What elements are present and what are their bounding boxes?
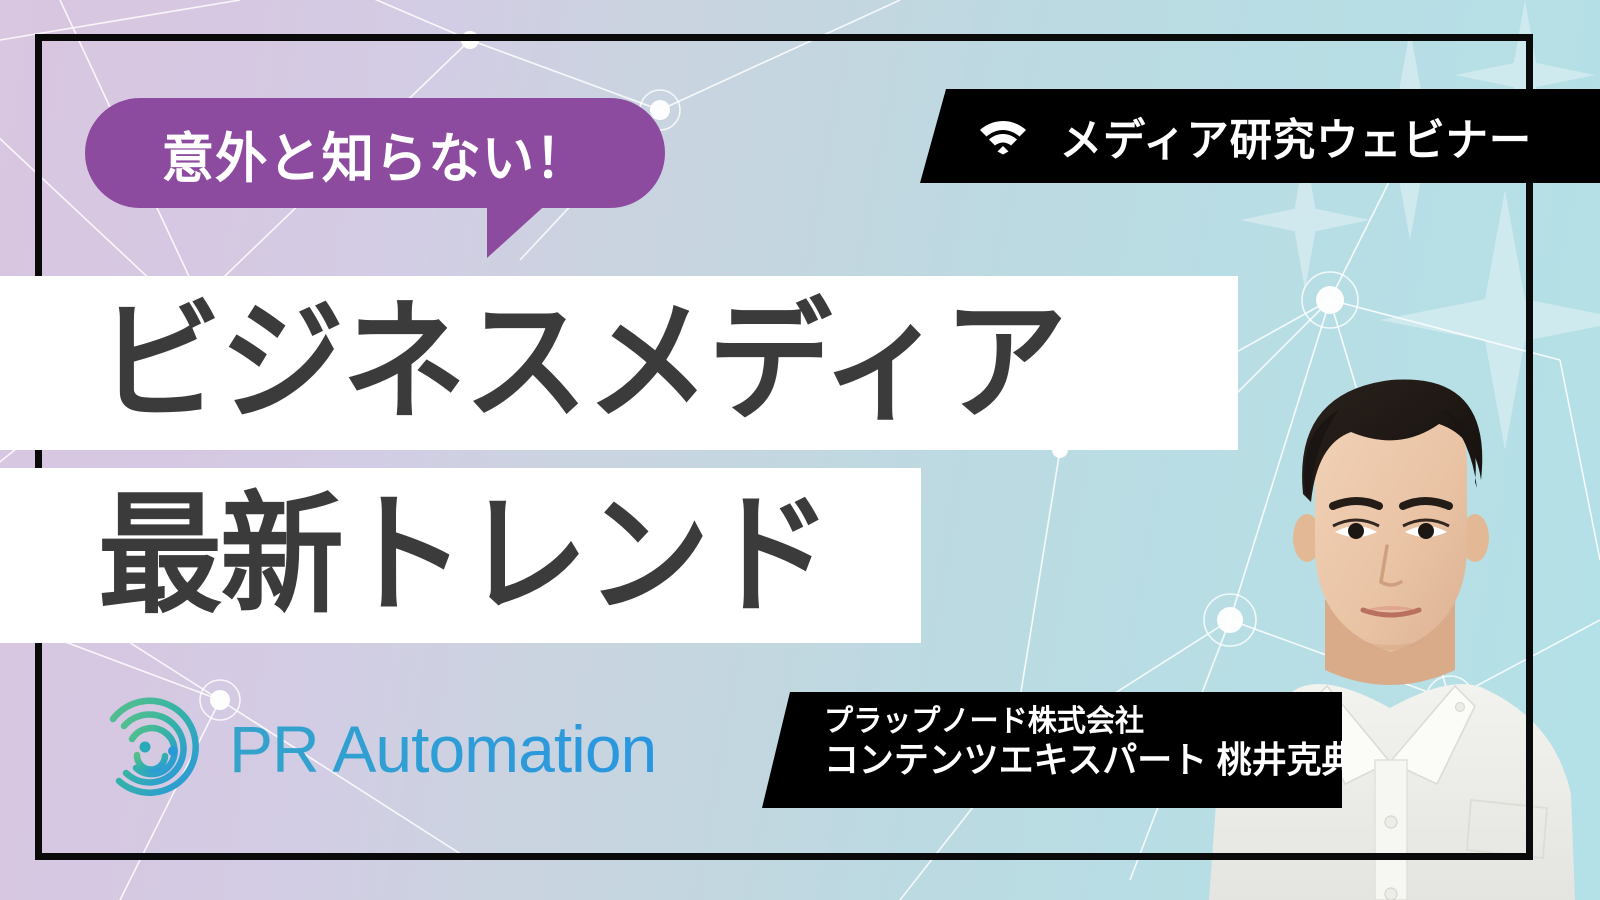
catchphrase-bubble: 意外と知らない！ (85, 98, 665, 208)
speaker-role-and-name: コンテンツエキスパート 桃井克典 (824, 739, 1326, 781)
pr-automation-wordmark: PR Automation (229, 713, 656, 786)
pr-automation-logo: PR Automation (95, 693, 656, 805)
speaker-company: プラップノード株式会社 (824, 704, 1326, 739)
title-line2-bar: 最新トレンド (0, 468, 921, 643)
catchphrase-bubble-tail (487, 200, 551, 258)
webinar-category-label: メディア研究ウェビナー (1060, 104, 1532, 168)
speaker-info-badge: プラップノード株式会社 コンテンツエキスパート 桃井克典 (762, 692, 1342, 808)
catchphrase-text: 意外と知らない！ (162, 114, 589, 193)
title-line1-text: ビジネスメディア (0, 297, 1065, 428)
spiral-logo-icon (95, 693, 207, 805)
webinar-category-badge: メディア研究ウェビナー (920, 89, 1600, 183)
title-line1-bar: ビジネスメディア (0, 276, 1238, 450)
wifi-icon (978, 117, 1028, 155)
title-line2-text: 最新トレンド (0, 490, 830, 621)
webinar-banner: 意外と知らない！ メディア研究ウェビナー ビジネスメディア 最新トレンド (0, 0, 1600, 900)
